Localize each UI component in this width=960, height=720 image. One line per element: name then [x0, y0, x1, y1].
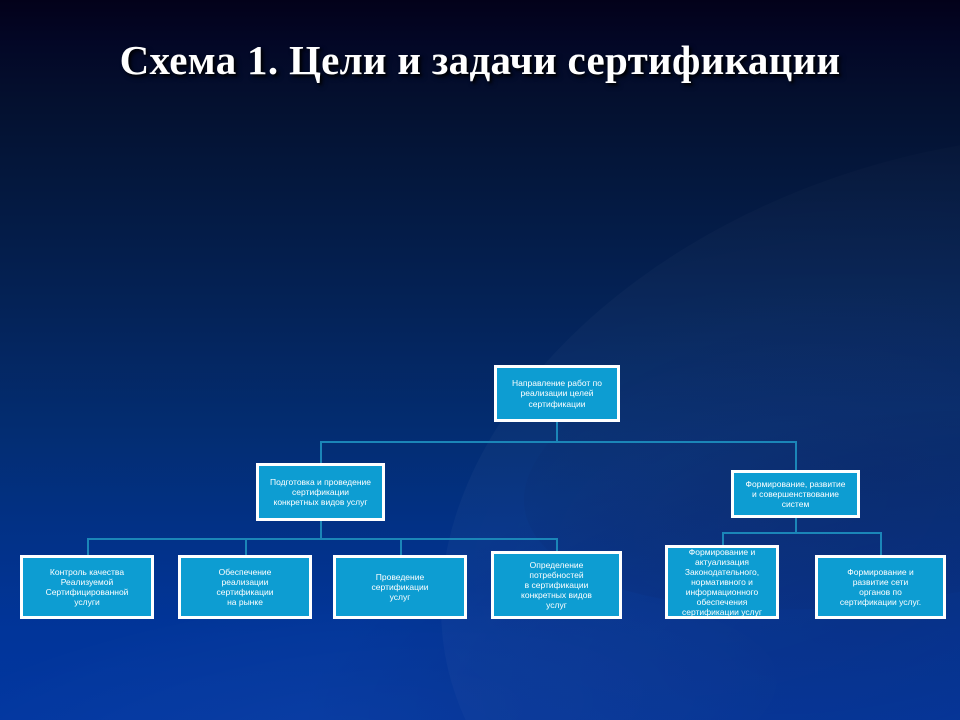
connector-level2-left-bus: [87, 538, 557, 540]
node-branch-left[interactable]: Подготовка и проведениесертификацииконкр…: [256, 463, 385, 521]
node-leaf-2[interactable]: Обеспечениереализациисертификациина рынк…: [178, 555, 312, 619]
connector-branch-right-stem: [795, 518, 797, 532]
connector-to-leaf-6: [880, 532, 882, 555]
node-root-label: Направление работ пореализации целей сер…: [501, 378, 613, 408]
slide-canvas: Схема 1. Цели и задачи сертификации Напр…: [0, 0, 960, 720]
node-leaf-5[interactable]: Формирование иактуализацияЗаконодательно…: [665, 545, 779, 619]
node-leaf-5-label: Формирование иактуализацияЗаконодательно…: [672, 547, 772, 617]
node-leaf-6[interactable]: Формирование иразвитие сетиорганов посер…: [815, 555, 946, 619]
node-branch-right-label: Формирование, развитиеи совершенствовани…: [738, 479, 853, 509]
connector-level1-bus: [320, 441, 796, 443]
connector-to-leaf-4: [556, 538, 558, 551]
node-root[interactable]: Направление работ пореализации целей сер…: [494, 365, 620, 422]
node-leaf-3-label: Проведениесертификацииуслуг: [340, 572, 460, 602]
node-branch-left-label: Подготовка и проведениесертификацииконкр…: [263, 477, 378, 507]
node-leaf-3[interactable]: Проведениесертификацииуслуг: [333, 555, 467, 619]
slide-title: Схема 1. Цели и задачи сертификации: [0, 36, 960, 84]
node-leaf-4[interactable]: Определениепотребностейв сертификациикон…: [491, 551, 622, 619]
connector-to-leaf-1: [87, 538, 89, 555]
connector-branch-left-stem: [320, 521, 322, 538]
connector-to-branch-right: [795, 441, 797, 470]
connector-to-leaf-3: [400, 538, 402, 555]
connector-to-leaf-5: [722, 532, 724, 545]
node-branch-right[interactable]: Формирование, развитиеи совершенствовани…: [731, 470, 860, 518]
node-leaf-1-label: Контроль качестваРеализуемойСертифициров…: [27, 567, 147, 607]
node-leaf-1[interactable]: Контроль качестваРеализуемойСертифициров…: [20, 555, 154, 619]
node-leaf-2-label: Обеспечениереализациисертификациина рынк…: [185, 567, 305, 607]
connector-to-leaf-2: [245, 538, 247, 555]
node-leaf-6-label: Формирование иразвитие сетиорганов посер…: [822, 567, 939, 607]
connector-root-stem: [556, 422, 558, 442]
connector-level2-right-bus: [722, 532, 882, 534]
connector-to-branch-left: [320, 441, 322, 463]
node-leaf-4-label: Определениепотребностейв сертификациикон…: [498, 560, 615, 610]
